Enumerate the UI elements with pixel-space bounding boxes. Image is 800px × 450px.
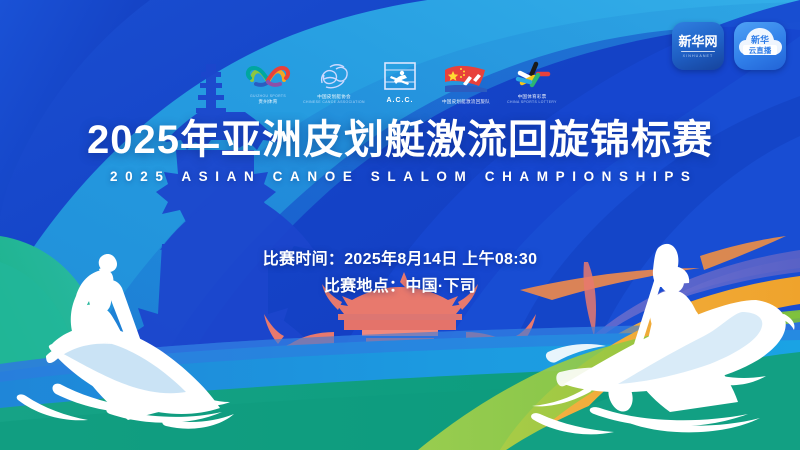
china-canoe-team-logo: 中国皮划艇激流回旋队 [440,57,492,105]
chinese-canoe-association-en: CHINESE CANOE ASSOCIATION [303,100,365,105]
china-canoe-team-cn: 中国皮划艇激流回旋队 [442,99,490,105]
poster-canvas: GUIZHOU SPORTS 贵州体育 中国皮划艇协会 CHINESE CANO… [0,0,800,450]
infinity-loop-icon [242,57,294,94]
event-time-line: 比赛时间：2025年8月14日 上午08:30 [0,246,800,273]
wave-swirl-icon [308,57,360,94]
lottery-sticks-icon [506,57,558,94]
title-block: 2025年亚洲皮划艇激流回旋锦标赛 2025 ASIAN CANOE SLALO… [0,118,800,186]
page-title: 2025年亚洲皮划艇激流回旋锦标赛 [0,118,800,162]
page-subtitle: 2025 ASIAN CANOE SLALOM CHAMPIONSHIPS [0,168,800,186]
acc-logo: A.C.C. [374,57,426,105]
guizhou-sports-logo: GUIZHOU SPORTS 贵州体育 [242,57,294,105]
xinhuanet-logo[interactable]: 新华网 XINHUANET [672,22,724,70]
cloudlive-logo[interactable]: 新华 云直播 [734,22,786,70]
acc-abbr: A.C.C. [387,97,414,105]
event-info-block: 比赛时间：2025年8月14日 上午08:30 比赛地点：中国·下司 [0,246,800,300]
svg-text:云直播: 云直播 [749,45,772,55]
svg-text:新华: 新华 [751,34,769,45]
china-sports-lottery-logo: 中国体育彩票 CHINA SPORTS LOTTERY [506,57,558,105]
event-place-line: 比赛地点：中国·下司 [0,273,800,300]
xinhuanet-logo-rule [681,51,715,52]
china-sports-lottery-en: CHINA SPORTS LOTTERY [507,100,557,105]
guizhou-sports-cn: 贵州体育 [258,99,277,105]
xinhuanet-logo-en: XINHUANET [683,54,714,59]
chinese-canoe-association-logo: 中国皮划艇协会 CHINESE CANOE ASSOCIATION [308,57,360,105]
broadcaster-logo-group: 新华网 XINHUANET 新华 云直播 [672,22,786,70]
cloud-icon: 新华 云直播 [734,22,786,70]
flag-paddler-icon [440,57,492,99]
xinhuanet-logo-cn: 新华网 [678,34,717,49]
paddler-frame-icon [374,57,426,97]
